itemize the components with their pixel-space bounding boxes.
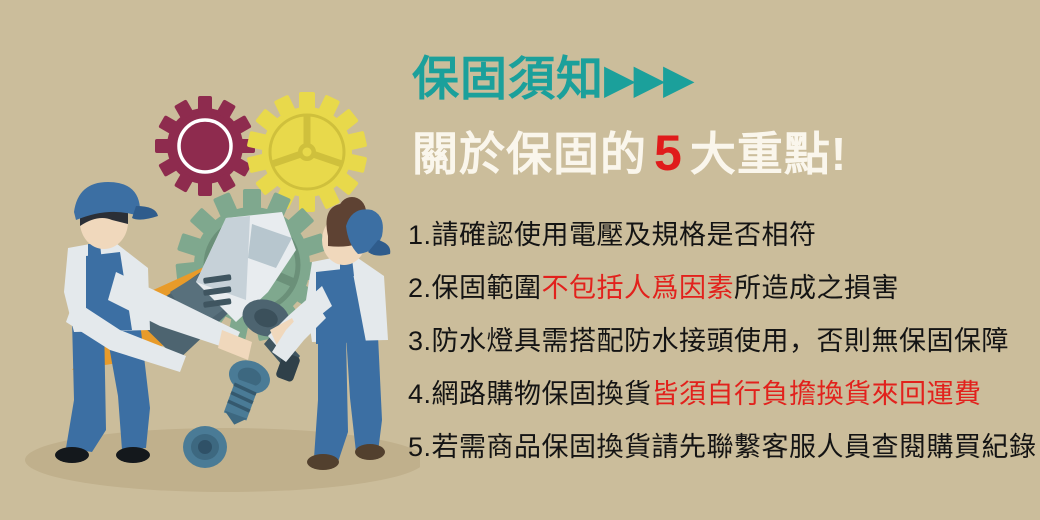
banner-root: 保固須知▶▶▶ 關於保固的5大重點! 1.請確認使用電壓及規格是否相符2.保固範… [0,0,1040,520]
list-item-index: 1. [408,220,432,250]
list-item-index: 4. [408,379,432,409]
headline-secondary: 關於保固的5大重點! [412,128,847,178]
warranty-illustration [0,0,420,520]
list-item-index: 3. [408,326,432,356]
list-item-highlight: 不包括人爲因素 [542,273,735,303]
arrows-icon: ▶▶▶ [604,56,693,102]
list-item-index: 5. [408,432,432,462]
nut-icon [183,426,227,468]
list-item-index: 2. [408,273,432,303]
text-column: 保固須知▶▶▶ 關於保固的5大重點! 1.請確認使用電壓及規格是否相符2.保固範… [408,0,1040,520]
gear-red-icon [155,96,255,196]
list-item: 2.保固範圍不包括人爲因素所造成之損害 [408,275,1040,302]
headline-primary: 保固須知▶▶▶ [412,55,693,102]
headline-secondary-suffix: 大重點! [690,128,847,180]
list-item: 5.若需商品保固換貨請先聯繫客服人員查閱購買紀錄 [408,434,1040,461]
warranty-points-list: 1.請確認使用電壓及規格是否相符2.保固範圍不包括人爲因素所造成之損害3.防水燈… [408,222,1040,487]
screw-icon [213,355,275,431]
list-item-text: 所造成之損害 [734,273,899,303]
illustration-svg [0,0,420,520]
list-item-text: 防水燈具需搭配防水接頭使用，否則無保固保障 [432,326,1010,356]
headline-secondary-prefix: 關於保固的 [412,128,647,180]
list-item-text: 若需商品保固換貨請先聯繫客服人員查閱購買紀錄 [432,432,1037,462]
list-item: 4.網路購物保固換貨皆須自行負擔換貨來回運費 [408,381,1040,408]
list-item-text: 請確認使用電壓及規格是否相符 [432,220,817,250]
gear-yellow-icon [247,92,368,212]
list-item-text: 網路購物保固換貨 [432,379,652,409]
list-item: 1.請確認使用電壓及規格是否相符 [408,222,1040,249]
list-item-highlight: 皆須自行負擔換貨來回運費 [652,379,982,409]
headline-count-number: 5 [647,125,690,181]
headline-primary-text: 保固須知 [412,52,604,105]
list-item-text: 保固範圍 [432,273,542,303]
list-item: 3.防水燈具需搭配防水接頭使用，否則無保固保障 [408,328,1040,355]
